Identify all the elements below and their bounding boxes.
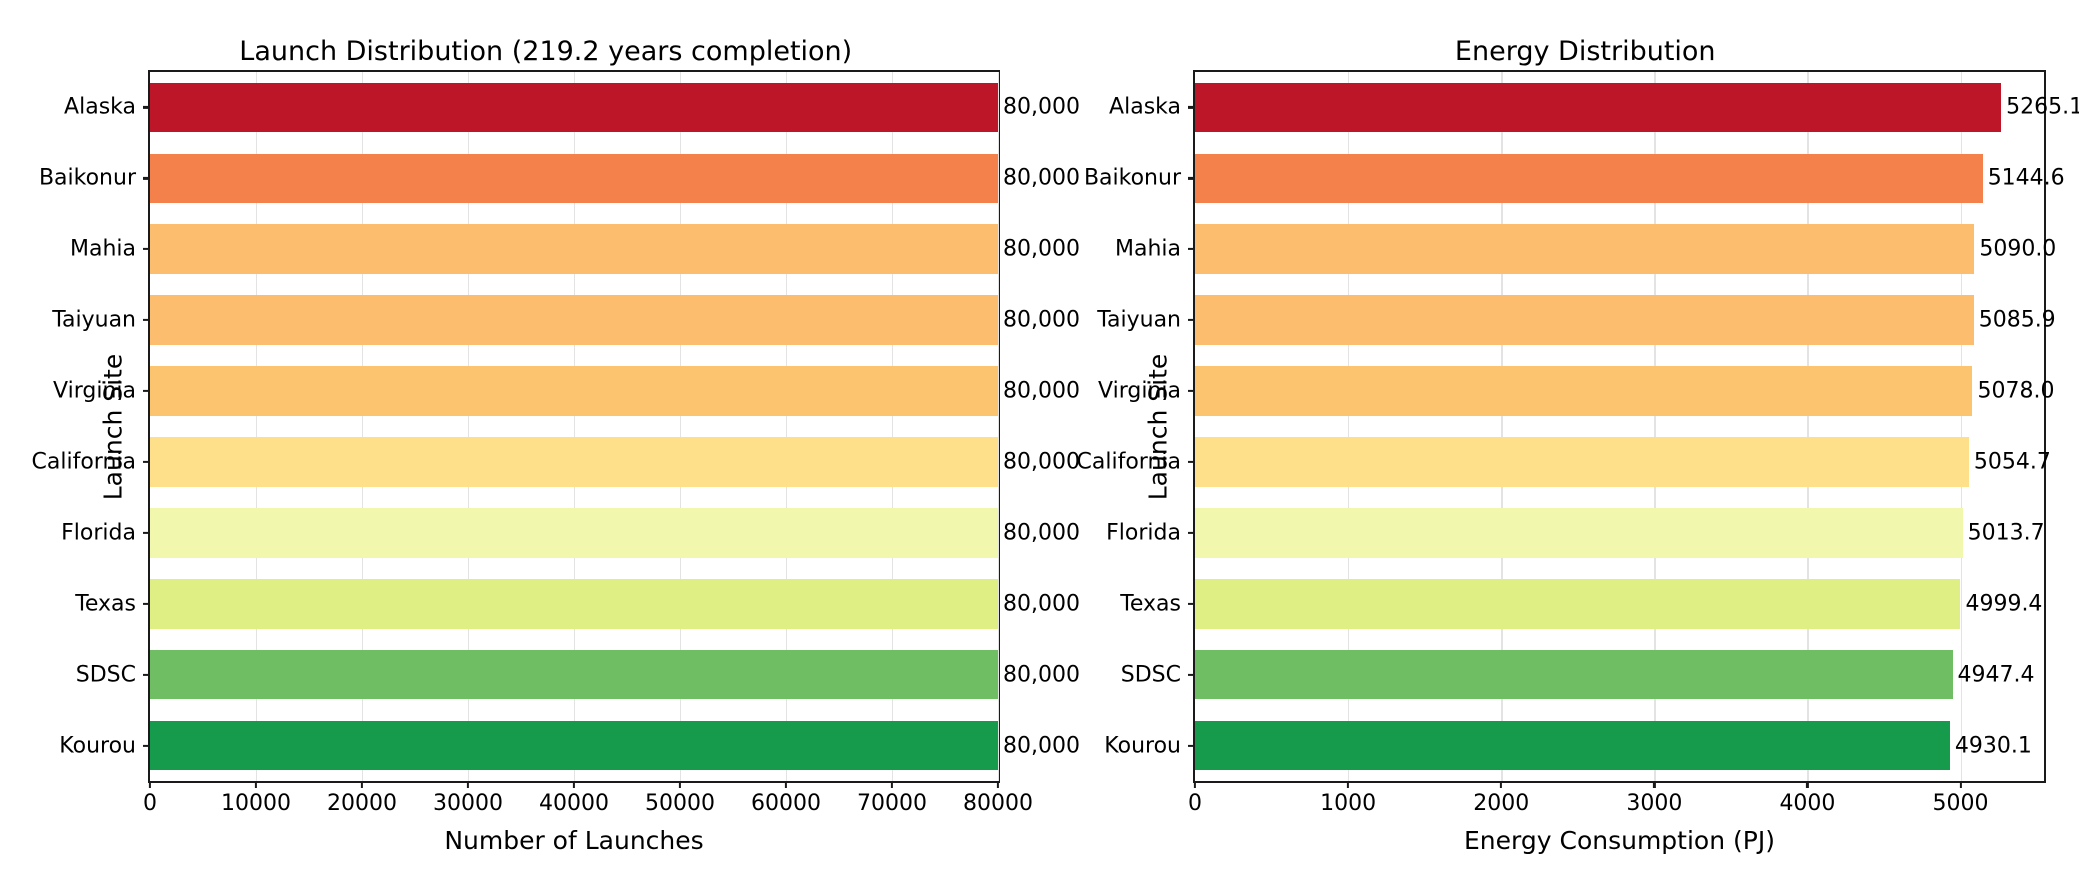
bar-texas[interactable] [1195,579,1960,629]
chart-panel-launch-distribution: Launch Distribution (219.2 years complet… [0,0,1040,877]
y-tick-label-baikonur: Baikonur [1084,166,1195,191]
x-tick-label: 60000 [751,791,821,816]
y-tick-label-mahia: Mahia [1115,237,1195,262]
x-axis-title-right: Energy Consumption (PJ) [1195,826,2044,855]
y-tick-label-texas: Texas [1120,591,1195,616]
bar-baikonur[interactable] [150,154,998,204]
x-tick-label: 80000 [963,791,1033,816]
y-tick-label-taiyuan: Taiyuan [1097,308,1195,333]
x-tick-mark [361,781,363,788]
bar-florida[interactable] [1195,508,1963,558]
bar-row[interactable]: 80,000 [150,224,998,274]
y-axis-title-right: Launch Site [1144,353,1173,499]
plot-inner-left: 80,000Alaska80,000Baikonur80,000Mahia80,… [150,72,998,781]
bar-row[interactable]: 5090.0 [1195,224,2044,274]
y-tick-label-sdsc: SDSC [76,662,150,687]
bar-taiyuan[interactable] [150,295,998,345]
y-tick-label-alaska: Alaska [64,95,150,120]
y-tick-label-baikonur: Baikonur [39,166,150,191]
bar-value-label: 5144.6 [1983,166,2065,191]
bar-row[interactable]: 80,000 [150,579,998,629]
bar-value-label: 5265.1 [2001,95,2079,120]
chart-title-right-line1: Energy Distribution [1455,36,1716,67]
x-tick-label: 3000 [1626,791,1682,816]
y-tick-label-alaska: Alaska [1109,95,1195,120]
x-tick-mark [891,781,893,788]
x-tick-mark [573,781,575,788]
x-tick-label: 0 [143,791,157,816]
bar-row[interactable]: 4947.4 [1195,650,2044,700]
x-tick-label: 0 [1188,791,1202,816]
bar-texas[interactable] [150,579,998,629]
bar-value-label: 5078.0 [1972,379,2054,404]
x-tick-label: 30000 [433,791,503,816]
bar-baikonur[interactable] [1195,154,1983,204]
bar-alaska[interactable] [1195,83,2001,133]
bar-row[interactable]: 80,000 [150,650,998,700]
plot-inner-right: 5265.1Alaska5144.6Baikonur5090.0Mahia508… [1195,72,2044,781]
bar-value-label: 5013.7 [1963,520,2045,545]
x-axis-title-left: Number of Launches [150,826,998,855]
bar-value-label: 4947.4 [1953,662,2035,687]
bar-california[interactable] [150,437,998,487]
y-tick-label-florida: Florida [1106,520,1195,545]
bar-kourou[interactable] [150,721,998,771]
bar-row[interactable]: 80,000 [150,83,998,133]
bar-value-label: 5085.9 [1974,308,2056,333]
y-tick-label-kourou: Kourou [59,733,150,758]
bar-taiyuan[interactable] [1195,295,1974,345]
x-tick-mark [1806,781,1808,788]
bar-row[interactable]: 80,000 [150,508,998,558]
y-tick-label-taiyuan: Taiyuan [52,308,150,333]
x-tick-label: 4000 [1779,791,1835,816]
plot-area-right: 5265.1Alaska5144.6Baikonur5090.0Mahia508… [1193,70,2046,783]
x-tick-label: 1000 [1320,791,1376,816]
bar-mahia[interactable] [150,224,998,274]
x-tick-mark [149,781,151,788]
bar-row[interactable]: 4930.1 [1195,721,2044,771]
bar-kourou[interactable] [1195,721,1950,771]
x-tick-mark [1347,781,1349,788]
bar-row[interactable]: 4999.4 [1195,579,2044,629]
bar-sdsc[interactable] [1195,650,1953,700]
x-tick-mark [255,781,257,788]
bar-value-label: 5054.7 [1969,449,2051,474]
x-tick-mark [1194,781,1196,788]
bar-row[interactable]: 80,000 [150,721,998,771]
x-tick-label: 10000 [221,791,291,816]
y-tick-label-mahia: Mahia [70,237,150,262]
bar-row[interactable]: 80,000 [150,366,998,416]
bar-virginia[interactable] [150,366,998,416]
x-tick-mark [1500,781,1502,788]
bar-row[interactable]: 80,000 [150,295,998,345]
x-tick-label: 5000 [1933,791,1989,816]
bar-value-label: 5090.0 [1974,237,2056,262]
x-tick-mark [785,781,787,788]
bar-alaska[interactable] [150,83,998,133]
x-tick-mark [467,781,469,788]
bar-row[interactable]: 5265.1 [1195,83,2044,133]
chart-title-left-line1: Launch Distribution (219.2 years complet… [239,36,852,67]
bar-california[interactable] [1195,437,1969,487]
x-tick-label: 40000 [539,791,609,816]
bar-value-label: 4930.1 [1950,733,2032,758]
bar-row[interactable]: 5054.7 [1195,437,2044,487]
plot-area-left: 80,000Alaska80,000Baikonur80,000Mahia80,… [148,70,1000,783]
bar-sdsc[interactable] [150,650,998,700]
x-tick-label: 2000 [1473,791,1529,816]
y-tick-label-california: California [1077,449,1195,474]
bar-mahia[interactable] [1195,224,1974,274]
bar-row[interactable]: 5078.0 [1195,366,2044,416]
y-axis-title-left: Launch Site [99,353,128,499]
x-tick-label: 70000 [857,791,927,816]
y-tick-label-california: California [32,449,150,474]
bar-value-label: 4999.4 [1960,591,2042,616]
bar-row[interactable]: 5013.7 [1195,508,2044,558]
bar-row[interactable]: 80,000 [150,154,998,204]
bar-row[interactable]: 80,000 [150,437,998,487]
y-tick-label-texas: Texas [75,591,150,616]
x-tick-mark [1959,781,1961,788]
y-tick-label-florida: Florida [61,520,150,545]
bar-florida[interactable] [150,508,998,558]
bar-virginia[interactable] [1195,366,1972,416]
y-tick-label-kourou: Kourou [1104,733,1195,758]
figure-canvas: Launch Distribution (219.2 years complet… [0,0,2079,877]
x-tick-label: 50000 [645,791,715,816]
x-tick-mark [997,781,999,788]
bar-row[interactable]: 5085.9 [1195,295,2044,345]
y-tick-label-sdsc: SDSC [1121,662,1195,687]
x-tick-label: 20000 [327,791,397,816]
x-tick-mark [679,781,681,788]
x-tick-mark [1653,781,1655,788]
bar-row[interactable]: 5144.6 [1195,154,2044,204]
